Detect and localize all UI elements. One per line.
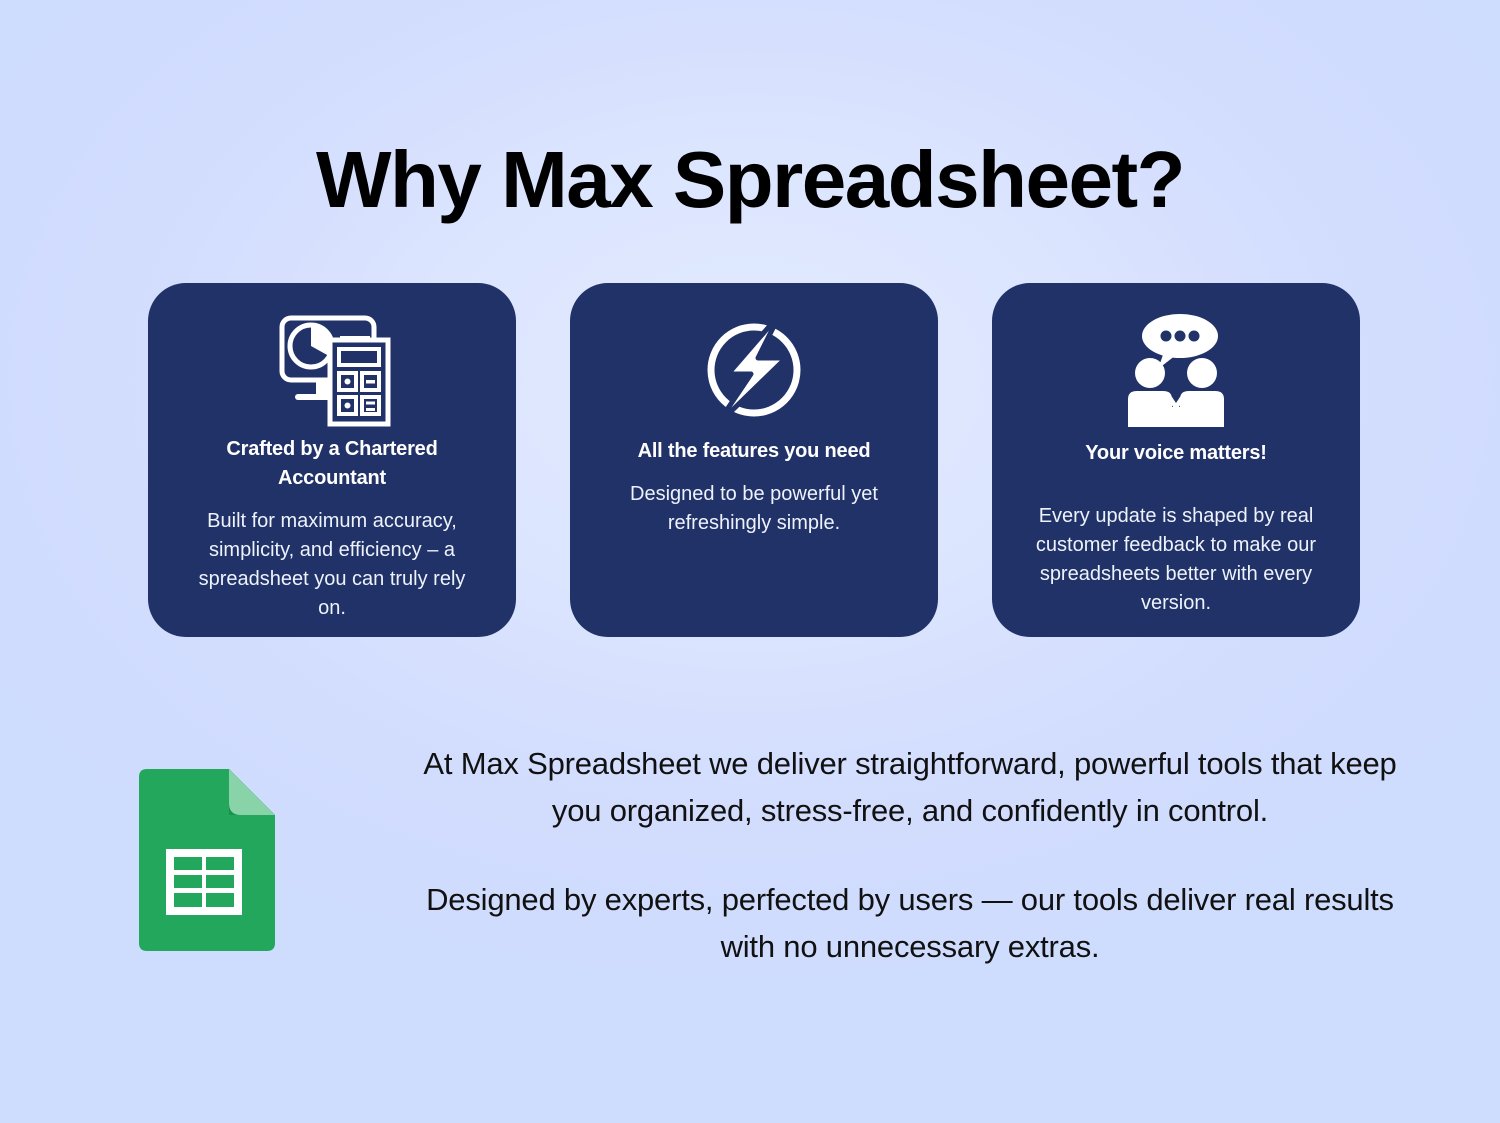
bottom-section: At Max Spreadsheet we deliver straightfo… — [0, 740, 1500, 1040]
google-sheets-icon — [131, 767, 277, 953]
feature-card-body: Every update is shaped by real customer … — [1026, 502, 1326, 618]
feature-cards-row: Crafted by a Chartered Accountant Built … — [148, 283, 1360, 637]
people-handshake-speech-icon — [1114, 311, 1238, 429]
page-title: Why Max Spreadsheet? — [0, 132, 1500, 228]
bottom-paragraph-1: At Max Spreadsheet we deliver straightfo… — [400, 740, 1420, 834]
feature-card-body: Designed to be powerful yet refreshingly… — [604, 480, 904, 538]
monitor-chart-calculator-icon — [266, 311, 398, 429]
feature-card-all-features[interactable]: All the features you need Designed to be… — [570, 283, 938, 637]
bottom-paragraph-2: Designed by experts, perfected by users … — [400, 876, 1420, 970]
feature-card-heading: Crafted by a Chartered Accountant — [187, 435, 477, 493]
feature-card-heading: Your voice matters! — [1085, 439, 1266, 468]
slide-canvas: Why Max Spreadsheet? — [0, 0, 1500, 1123]
feature-card-chartered-accountant[interactable]: Crafted by a Chartered Accountant Built … — [148, 283, 516, 637]
lightning-bolt-circle-icon — [694, 311, 814, 429]
feature-card-heading: All the features you need — [638, 437, 871, 466]
feature-card-your-voice[interactable]: Your voice matters! Every update is shap… — [992, 283, 1360, 637]
bottom-text-block: At Max Spreadsheet we deliver straightfo… — [400, 740, 1420, 970]
feature-card-body: Built for maximum accuracy, simplicity, … — [182, 507, 482, 623]
